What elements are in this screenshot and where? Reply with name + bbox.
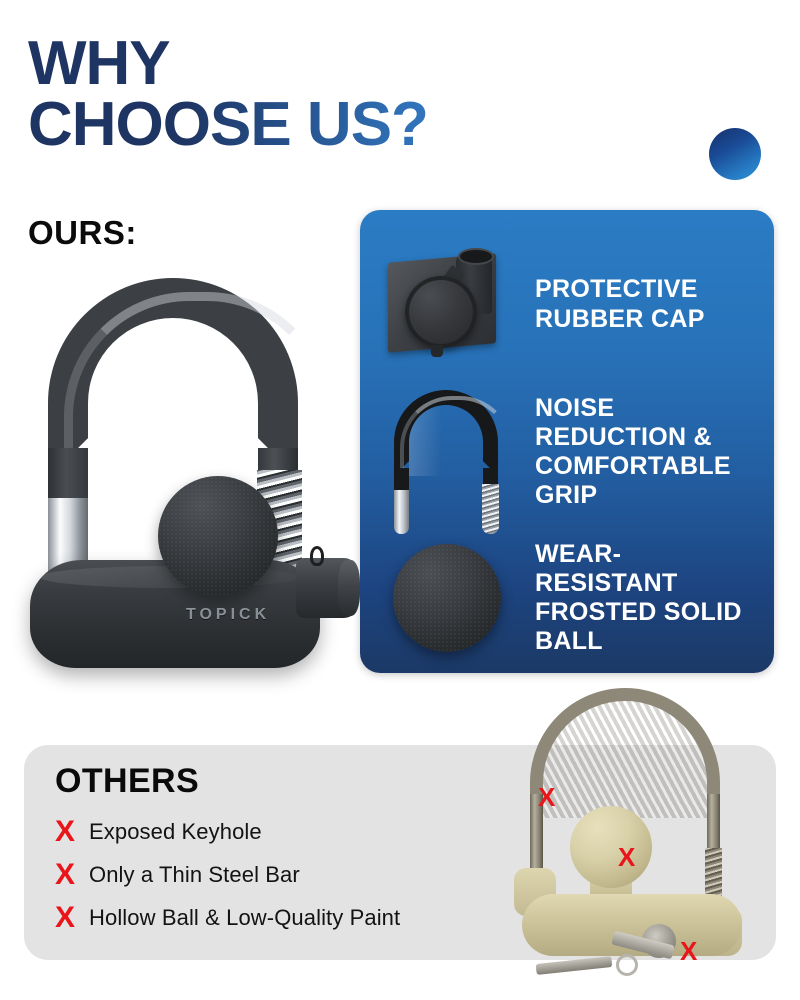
rubber-cap-icon [360,232,535,377]
rusty-shackle-arc-icon [530,688,720,818]
feature-panel: PROTECTIVE RUBBER CAP NOISE REDUCTION & … [360,210,774,673]
list-item: X Hollow Ball & Low-Quality Paint [55,898,525,938]
title-line-2: CHOOSE US? [28,95,668,156]
feature-label: WEAR-RESISTANT FROSTED SOLID BALL [535,540,774,657]
competitor-lock-image: X X X [500,686,800,1000]
list-item-label: Hollow Ball & Low-Quality Paint [89,905,400,931]
feature-label: NOISE REDUCTION & COMFORTABLE GRIP [535,394,774,511]
cross-icon: X [618,844,635,870]
list-item: X Only a Thin Steel Bar [55,855,525,895]
infographic-page: WHY CHOOSE US? OURS: TOPICK PROTECTIVE R… [0,0,800,1000]
our-lock-image [10,258,360,678]
frosted-ball-icon [360,528,535,668]
cross-icon: X [680,938,697,964]
list-item-label: Only a Thin Steel Bar [89,862,300,888]
competitor-hollow-ball-icon [570,806,652,888]
cross-icon: X [55,817,89,847]
others-title: OTHERS [55,762,199,801]
rusty-shackle-right-leg-icon [707,794,720,852]
feature-row: WEAR-RESISTANT FROSTED SOLID BALL [360,528,774,668]
others-list: X Exposed Keyhole X Only a Thin Steel Ba… [55,812,525,941]
brand-logo-text: TOPICK [186,606,270,624]
cross-icon: X [538,784,555,810]
title-line-1: WHY [28,34,668,95]
spare-key-icon [536,956,613,975]
list-item-label: Exposed Keyhole [89,819,262,845]
key-ring-icon [616,954,638,976]
cross-icon: X [55,860,89,890]
lock-cylinder-ring-icon [310,546,324,566]
ours-label: OURS: [28,214,137,252]
lock-solid-ball-icon [158,476,278,596]
shackle-bar-icon [360,378,535,526]
feature-row: PROTECTIVE RUBBER CAP [360,232,774,377]
cross-icon: X [55,903,89,933]
lock-cylinder-cap-icon [296,558,358,618]
feature-label: PROTECTIVE RUBBER CAP [535,275,774,334]
gradient-circle-icon [709,128,761,180]
page-title: WHY CHOOSE US? [28,34,668,156]
feature-row: NOISE REDUCTION & COMFORTABLE GRIP [360,378,774,526]
list-item: X Exposed Keyhole [55,812,525,852]
